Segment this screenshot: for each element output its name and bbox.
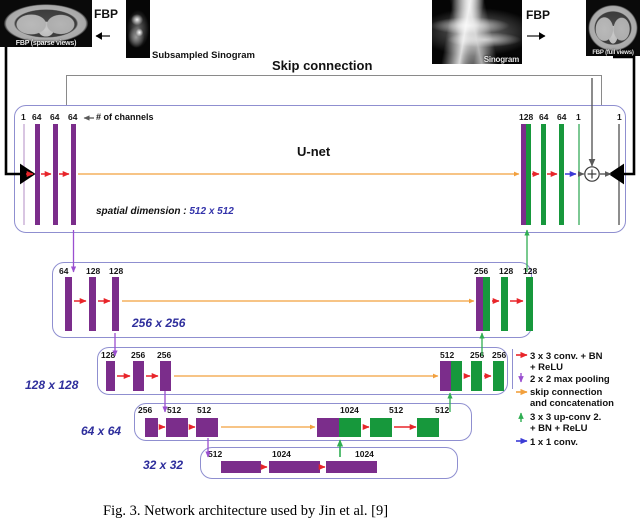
ground-truth-path — [611, 57, 634, 174]
addition-node — [585, 167, 599, 181]
connector-overlay — [0, 0, 640, 531]
network-input-path — [6, 47, 33, 174]
figure-network-architecture: FBP (sparse views) FBP Subsampled Sinogr… — [0, 0, 640, 531]
